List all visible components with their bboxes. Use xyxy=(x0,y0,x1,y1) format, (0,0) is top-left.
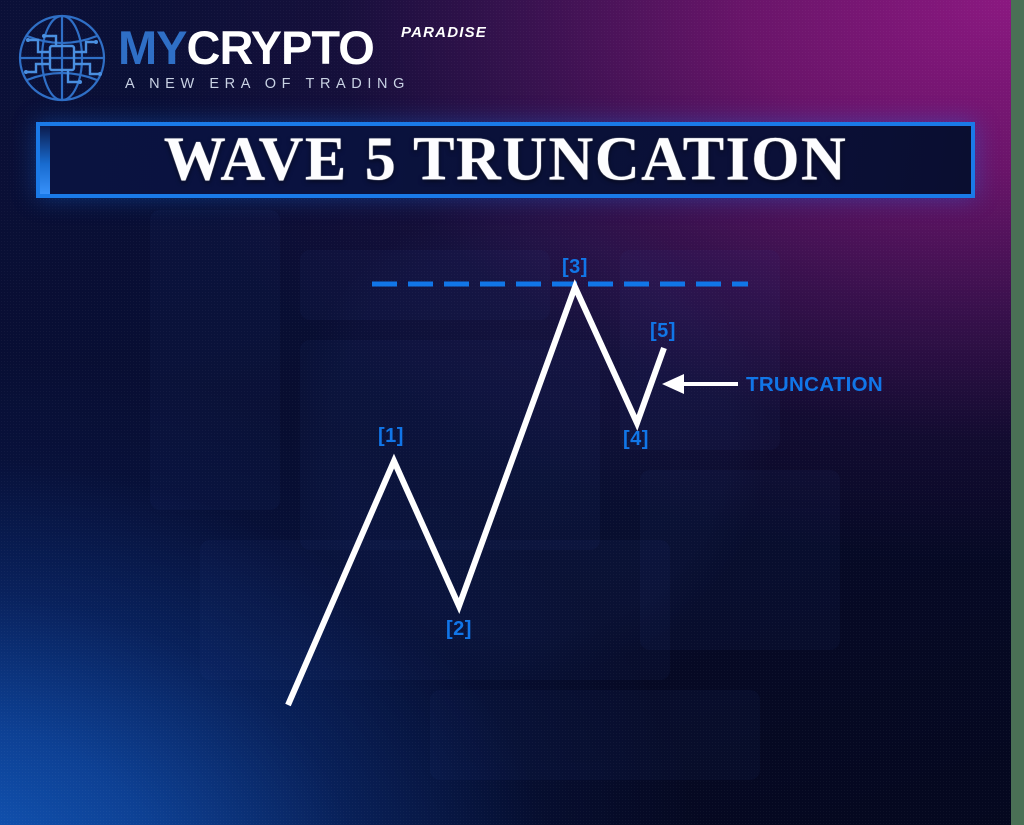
wave-point-label-4: [4] xyxy=(623,428,649,451)
wave-point-label-1: [1] xyxy=(378,425,404,448)
wave-point-label-5: [5] xyxy=(650,320,676,343)
truncation-callout-label: TRUNCATION xyxy=(746,373,883,397)
slide-screen: MYCRYPTO PARADISE A NEW ERA OF TRADING W… xyxy=(0,0,1024,825)
elliott-wave-polyline xyxy=(288,287,664,705)
wave-point-label-3: [3] xyxy=(562,256,588,279)
wave-point-label-2: [2] xyxy=(446,618,472,641)
slide-canvas: MYCRYPTO PARADISE A NEW ERA OF TRADING W… xyxy=(0,0,1011,825)
wave-chart-svg xyxy=(0,0,1011,825)
truncation-arrow-icon xyxy=(662,374,738,394)
right-edge-strip xyxy=(1011,0,1024,825)
wave-chart: [1] [2] [3] [4] [5] TRUNCATION xyxy=(0,0,1011,825)
